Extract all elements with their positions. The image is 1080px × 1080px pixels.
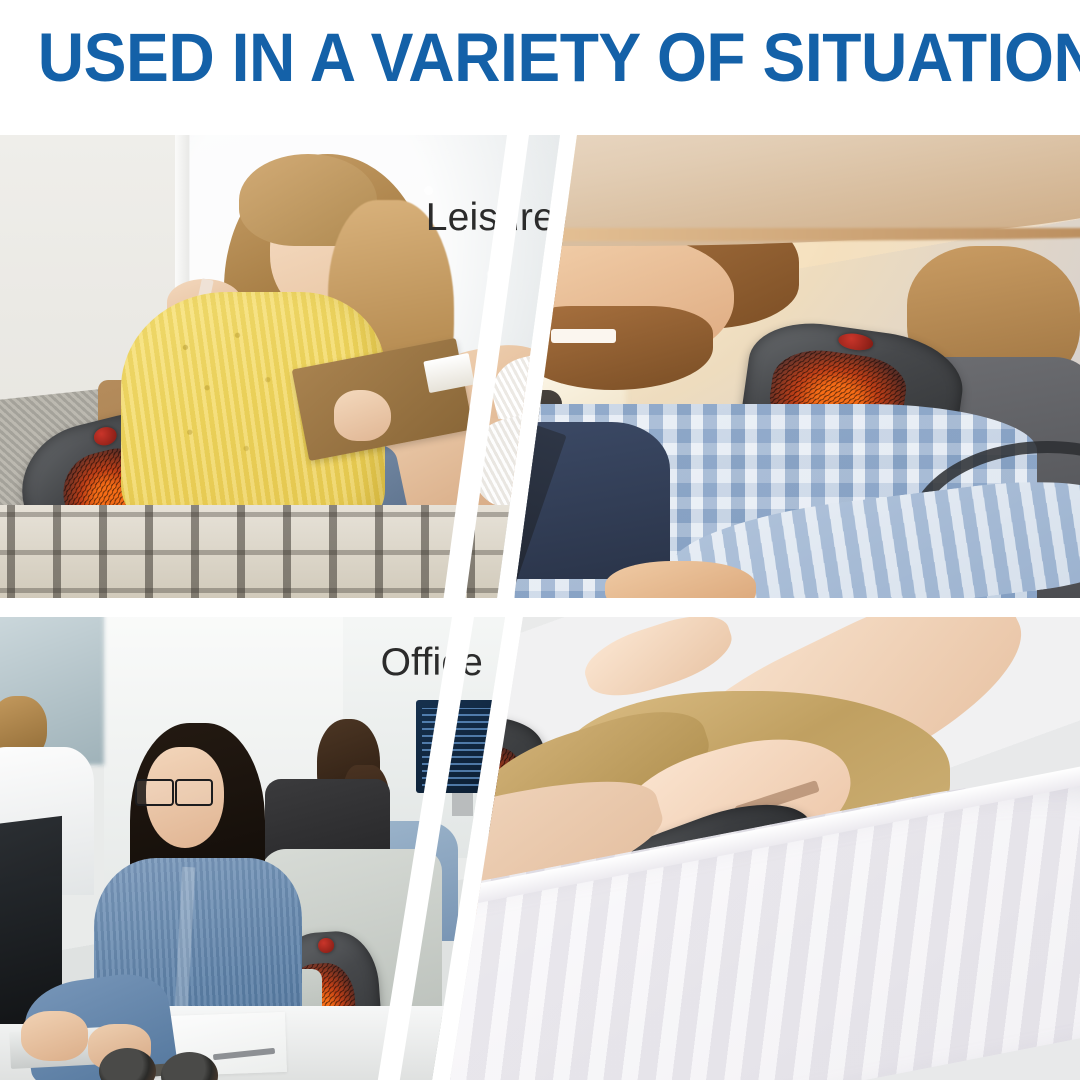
driver-smile (551, 329, 616, 343)
panel-label-leisure: Leisure (426, 197, 555, 239)
driver-hand (605, 561, 756, 598)
photo-row-top: Leisure (0, 135, 1080, 598)
driver-beard (518, 306, 712, 389)
patterned-blanket (0, 505, 575, 598)
photo-row-bottom: Office (0, 617, 1080, 1080)
divider-horizontal (0, 598, 1080, 617)
page-title: USED IN A VARIETY OF SITUATIONS (38, 22, 1042, 94)
woman-hand-left (21, 1011, 89, 1062)
eyeglasses-icon (135, 779, 213, 802)
monitor-stand (452, 793, 473, 816)
product-infographic: USED IN A VARIETY OF SITUATIONS (0, 0, 1080, 1080)
hand (334, 390, 392, 441)
